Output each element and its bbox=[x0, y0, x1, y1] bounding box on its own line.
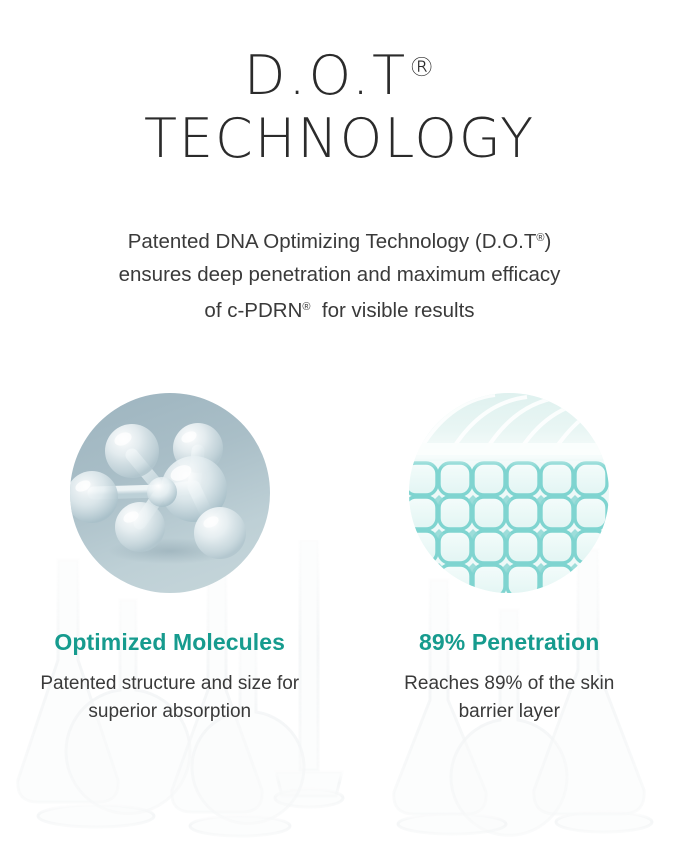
penetration-image bbox=[409, 393, 609, 593]
page-title: D.O.T® TECHNOLOGY bbox=[0, 48, 679, 166]
feature-heading-optimized-molecules: Optimized Molecules bbox=[54, 629, 285, 656]
intro-line-3: of c-PDRN® for visible results bbox=[50, 291, 629, 327]
intro-line-1-close: ) bbox=[544, 230, 551, 253]
optimized-molecules-image bbox=[70, 393, 270, 593]
dot-technology-infographic: D.O.T® TECHNOLOGY Patented DNA Optimizin… bbox=[0, 0, 679, 849]
feature-description-optimized-molecules: Patented structure and size for superior… bbox=[40, 670, 300, 726]
intro-line-2: ensures deep penetration and maximum eff… bbox=[50, 258, 629, 291]
intro-line-3-close: for visible results bbox=[311, 299, 475, 322]
registered-trademark-icon: ® bbox=[408, 52, 435, 83]
feature-description-penetration: Reaches 89% of the skin barrier layer bbox=[379, 670, 639, 726]
intro-line-1: Patented DNA Optimizing Technology (D.O.… bbox=[50, 222, 629, 258]
intro-line-1-text: Patented DNA Optimizing Technology (D.O.… bbox=[128, 230, 537, 253]
title-line-primary: D.O.T® bbox=[0, 48, 679, 103]
feature-penetration: 89% Penetration Reaches 89% of the skin … bbox=[340, 393, 679, 726]
registered-trademark-icon: ® bbox=[302, 301, 310, 313]
intro-paragraph: Patented DNA Optimizing Technology (D.O.… bbox=[50, 222, 629, 327]
intro-line-3-text: of c-PDRN bbox=[204, 299, 302, 322]
skin-barrier-lattice-render bbox=[409, 393, 609, 593]
title-line-secondary: TECHNOLOGY bbox=[0, 111, 679, 166]
feature-optimized-molecules: Optimized Molecules Patented structure a… bbox=[0, 393, 340, 726]
feature-columns: Optimized Molecules Patented structure a… bbox=[0, 393, 679, 726]
title-dot-text: D.O.T bbox=[244, 44, 408, 107]
feature-heading-penetration: 89% Penetration bbox=[419, 629, 599, 656]
molecule-3d-render bbox=[70, 393, 270, 593]
